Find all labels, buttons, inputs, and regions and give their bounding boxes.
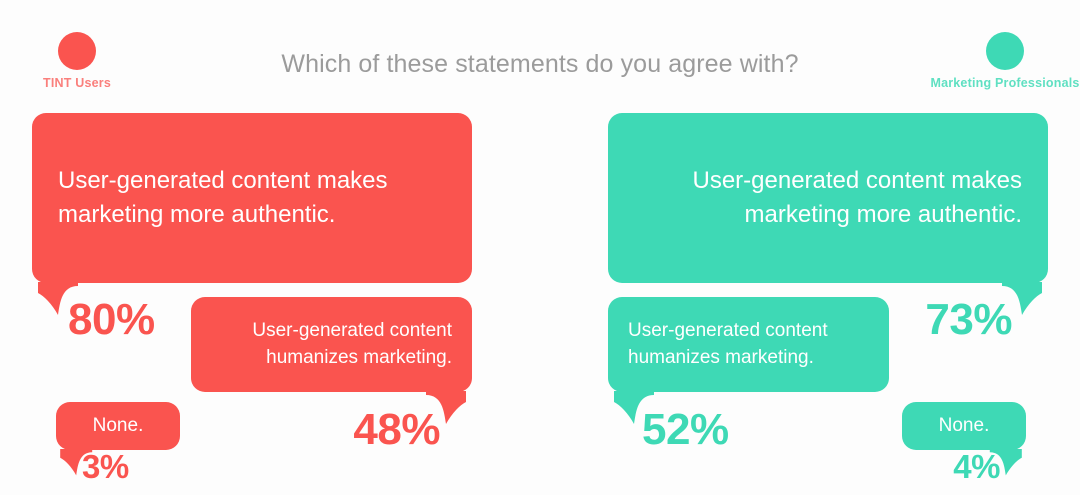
value-marketing-professionals-statement-1: 73% [872, 298, 1012, 342]
value-tint-users-statement-2: 48% [275, 408, 440, 452]
value-tint-users-statement-1: 80% [68, 298, 208, 342]
value-tint-users-statement-3: 3% [82, 450, 192, 483]
page-title: Which of these statements do you agree w… [0, 50, 1080, 79]
bubble-marketing-professionals-statement-1: User-generated content makes marketing m… [608, 113, 1048, 283]
bubble-marketing-professionals-statement-2: User-generated content humanizes marketi… [608, 297, 889, 392]
infographic-root: TINT Users Marketing Professionals Which… [0, 0, 1080, 495]
bubble-text-marketing-professionals-statement-1: User-generated content makes marketing m… [634, 164, 1022, 232]
bubble-text-tint-users-statement-3: None. [72, 413, 164, 440]
bubble-tint-users-statement-1: User-generated content makes marketing m… [32, 113, 472, 283]
bubble-tint-users-statement-3: None. [56, 402, 180, 450]
bubble-text-marketing-professionals-statement-3: None. [918, 413, 1010, 440]
bubble-text-tint-users-statement-2: User-generated content humanizes marketi… [211, 318, 452, 372]
bubble-tint-users-statement-2: User-generated content humanizes marketi… [191, 297, 472, 392]
value-marketing-professionals-statement-3: 4% [890, 450, 1000, 483]
value-marketing-professionals-statement-2: 52% [642, 408, 807, 452]
bubble-text-tint-users-statement-1: User-generated content makes marketing m… [58, 164, 446, 232]
bubble-text-marketing-professionals-statement-2: User-generated content humanizes marketi… [628, 318, 869, 372]
bubble-marketing-professionals-statement-3: None. [902, 402, 1026, 450]
